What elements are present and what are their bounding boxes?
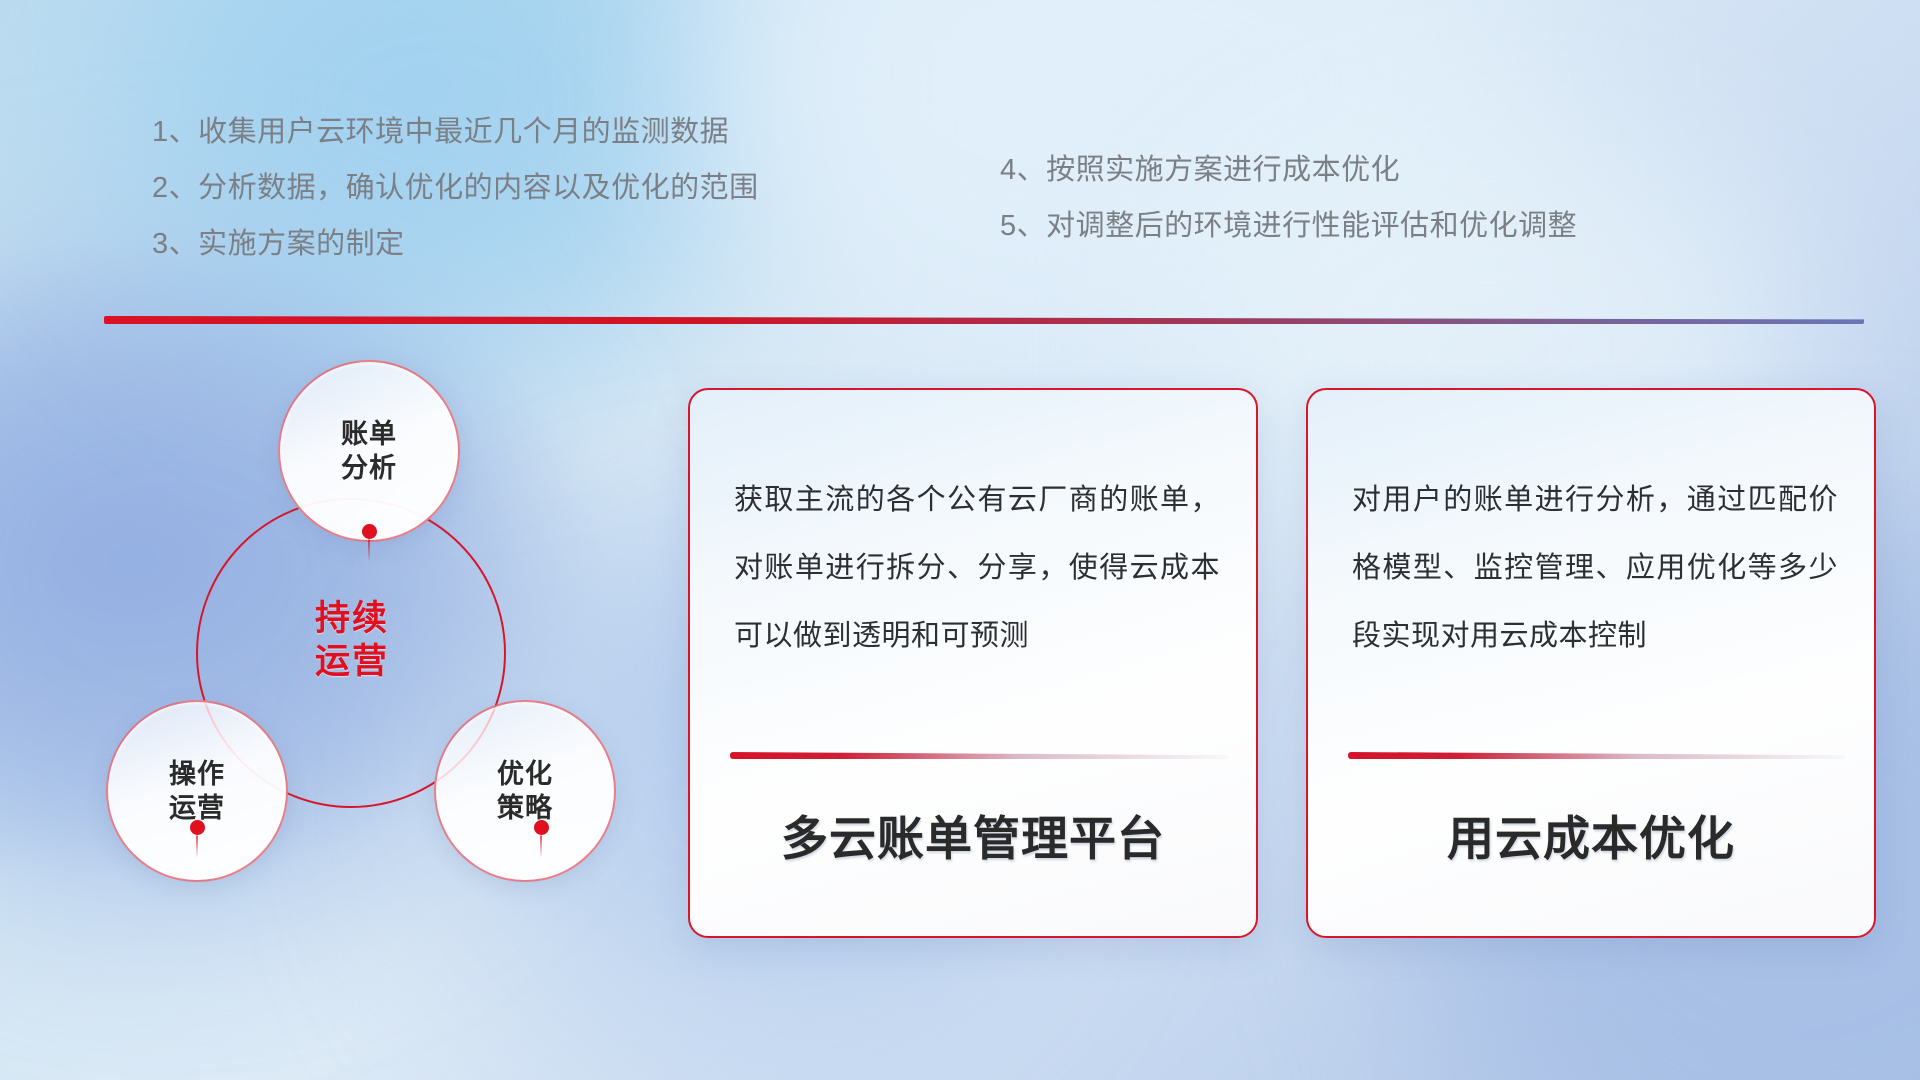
venn-bubble-label: 操作 运营 <box>169 757 225 825</box>
connector-dot <box>362 524 377 539</box>
step-item: 5、对调整后的环境进行性能评估和优化调整 <box>1000 198 1577 254</box>
venn-bubble-billing-analysis[interactable]: 账单 分析 <box>278 360 460 542</box>
step-item: 4、按照实施方案进行成本优化 <box>1000 142 1577 198</box>
venn-center-label: 持续 运营 <box>286 598 418 683</box>
connector-stem <box>368 536 370 562</box>
step-item: 3、实施方案的制定 <box>152 216 759 272</box>
venn-diagram: 账单 分析 操作 运营 优化 策略 持续 运营 <box>96 340 616 960</box>
steps-right-column: 4、按照实施方案进行成本优化 5、对调整后的环境进行性能评估和优化调整 <box>1000 142 1577 254</box>
venn-center-label-line1: 持续 <box>315 599 389 638</box>
venn-bubble-label-line2: 运营 <box>169 793 225 823</box>
card-accent-rule <box>1348 752 1846 759</box>
venn-bubble-label-line1: 优化 <box>497 759 553 789</box>
card-accent-rule <box>730 752 1228 759</box>
card-cloud-cost-optimization[interactable]: 对用户的账单进行分析，通过匹配价格模型、监控管理、应用优化等多少段实现对用云成本… <box>1306 388 1876 938</box>
connector-stem <box>540 832 542 858</box>
venn-bubble-label-line1: 账单 <box>341 419 397 449</box>
step-item: 2、分析数据，确认优化的内容以及优化的范围 <box>152 160 759 216</box>
card-body-text: 获取主流的各个公有云厂商的账单，对账单进行拆分、分享，使得云成本可以做到透明和可… <box>734 466 1220 670</box>
connector-stem <box>196 832 198 858</box>
steps-left-column: 1、收集用户云环境中最近几个月的监测数据 2、分析数据，确认优化的内容以及优化的… <box>152 104 759 272</box>
connector-dot <box>190 820 205 835</box>
card-multi-cloud-billing[interactable]: 获取主流的各个公有云厂商的账单，对账单进行拆分、分享，使得云成本可以做到透明和可… <box>688 388 1258 938</box>
slide-canvas: 1、收集用户云环境中最近几个月的监测数据 2、分析数据，确认优化的内容以及优化的… <box>0 0 1920 1080</box>
card-title: 用云成本优化 <box>1308 800 1874 869</box>
venn-bubble-optimization-strategy[interactable]: 优化 策略 <box>434 700 616 882</box>
step-item: 1、收集用户云环境中最近几个月的监测数据 <box>152 104 759 160</box>
venn-bubble-label-line2: 分析 <box>341 453 397 483</box>
venn-bubble-label: 账单 分析 <box>341 417 397 485</box>
card-title: 多云账单管理平台 <box>690 800 1256 869</box>
venn-center-label-line2: 运营 <box>315 642 389 681</box>
steps-section: 1、收集用户云环境中最近几个月的监测数据 2、分析数据，确认优化的内容以及优化的… <box>0 104 1920 294</box>
venn-bubble-label-line1: 操作 <box>169 759 225 789</box>
venn-bubble-label-line2: 策略 <box>497 793 553 823</box>
section-divider <box>104 316 1864 324</box>
connector-dot <box>534 820 549 835</box>
venn-bubble-label: 优化 策略 <box>497 757 553 825</box>
card-body-text: 对用户的账单进行分析，通过匹配价格模型、监控管理、应用优化等多少段实现对用云成本… <box>1352 466 1838 670</box>
